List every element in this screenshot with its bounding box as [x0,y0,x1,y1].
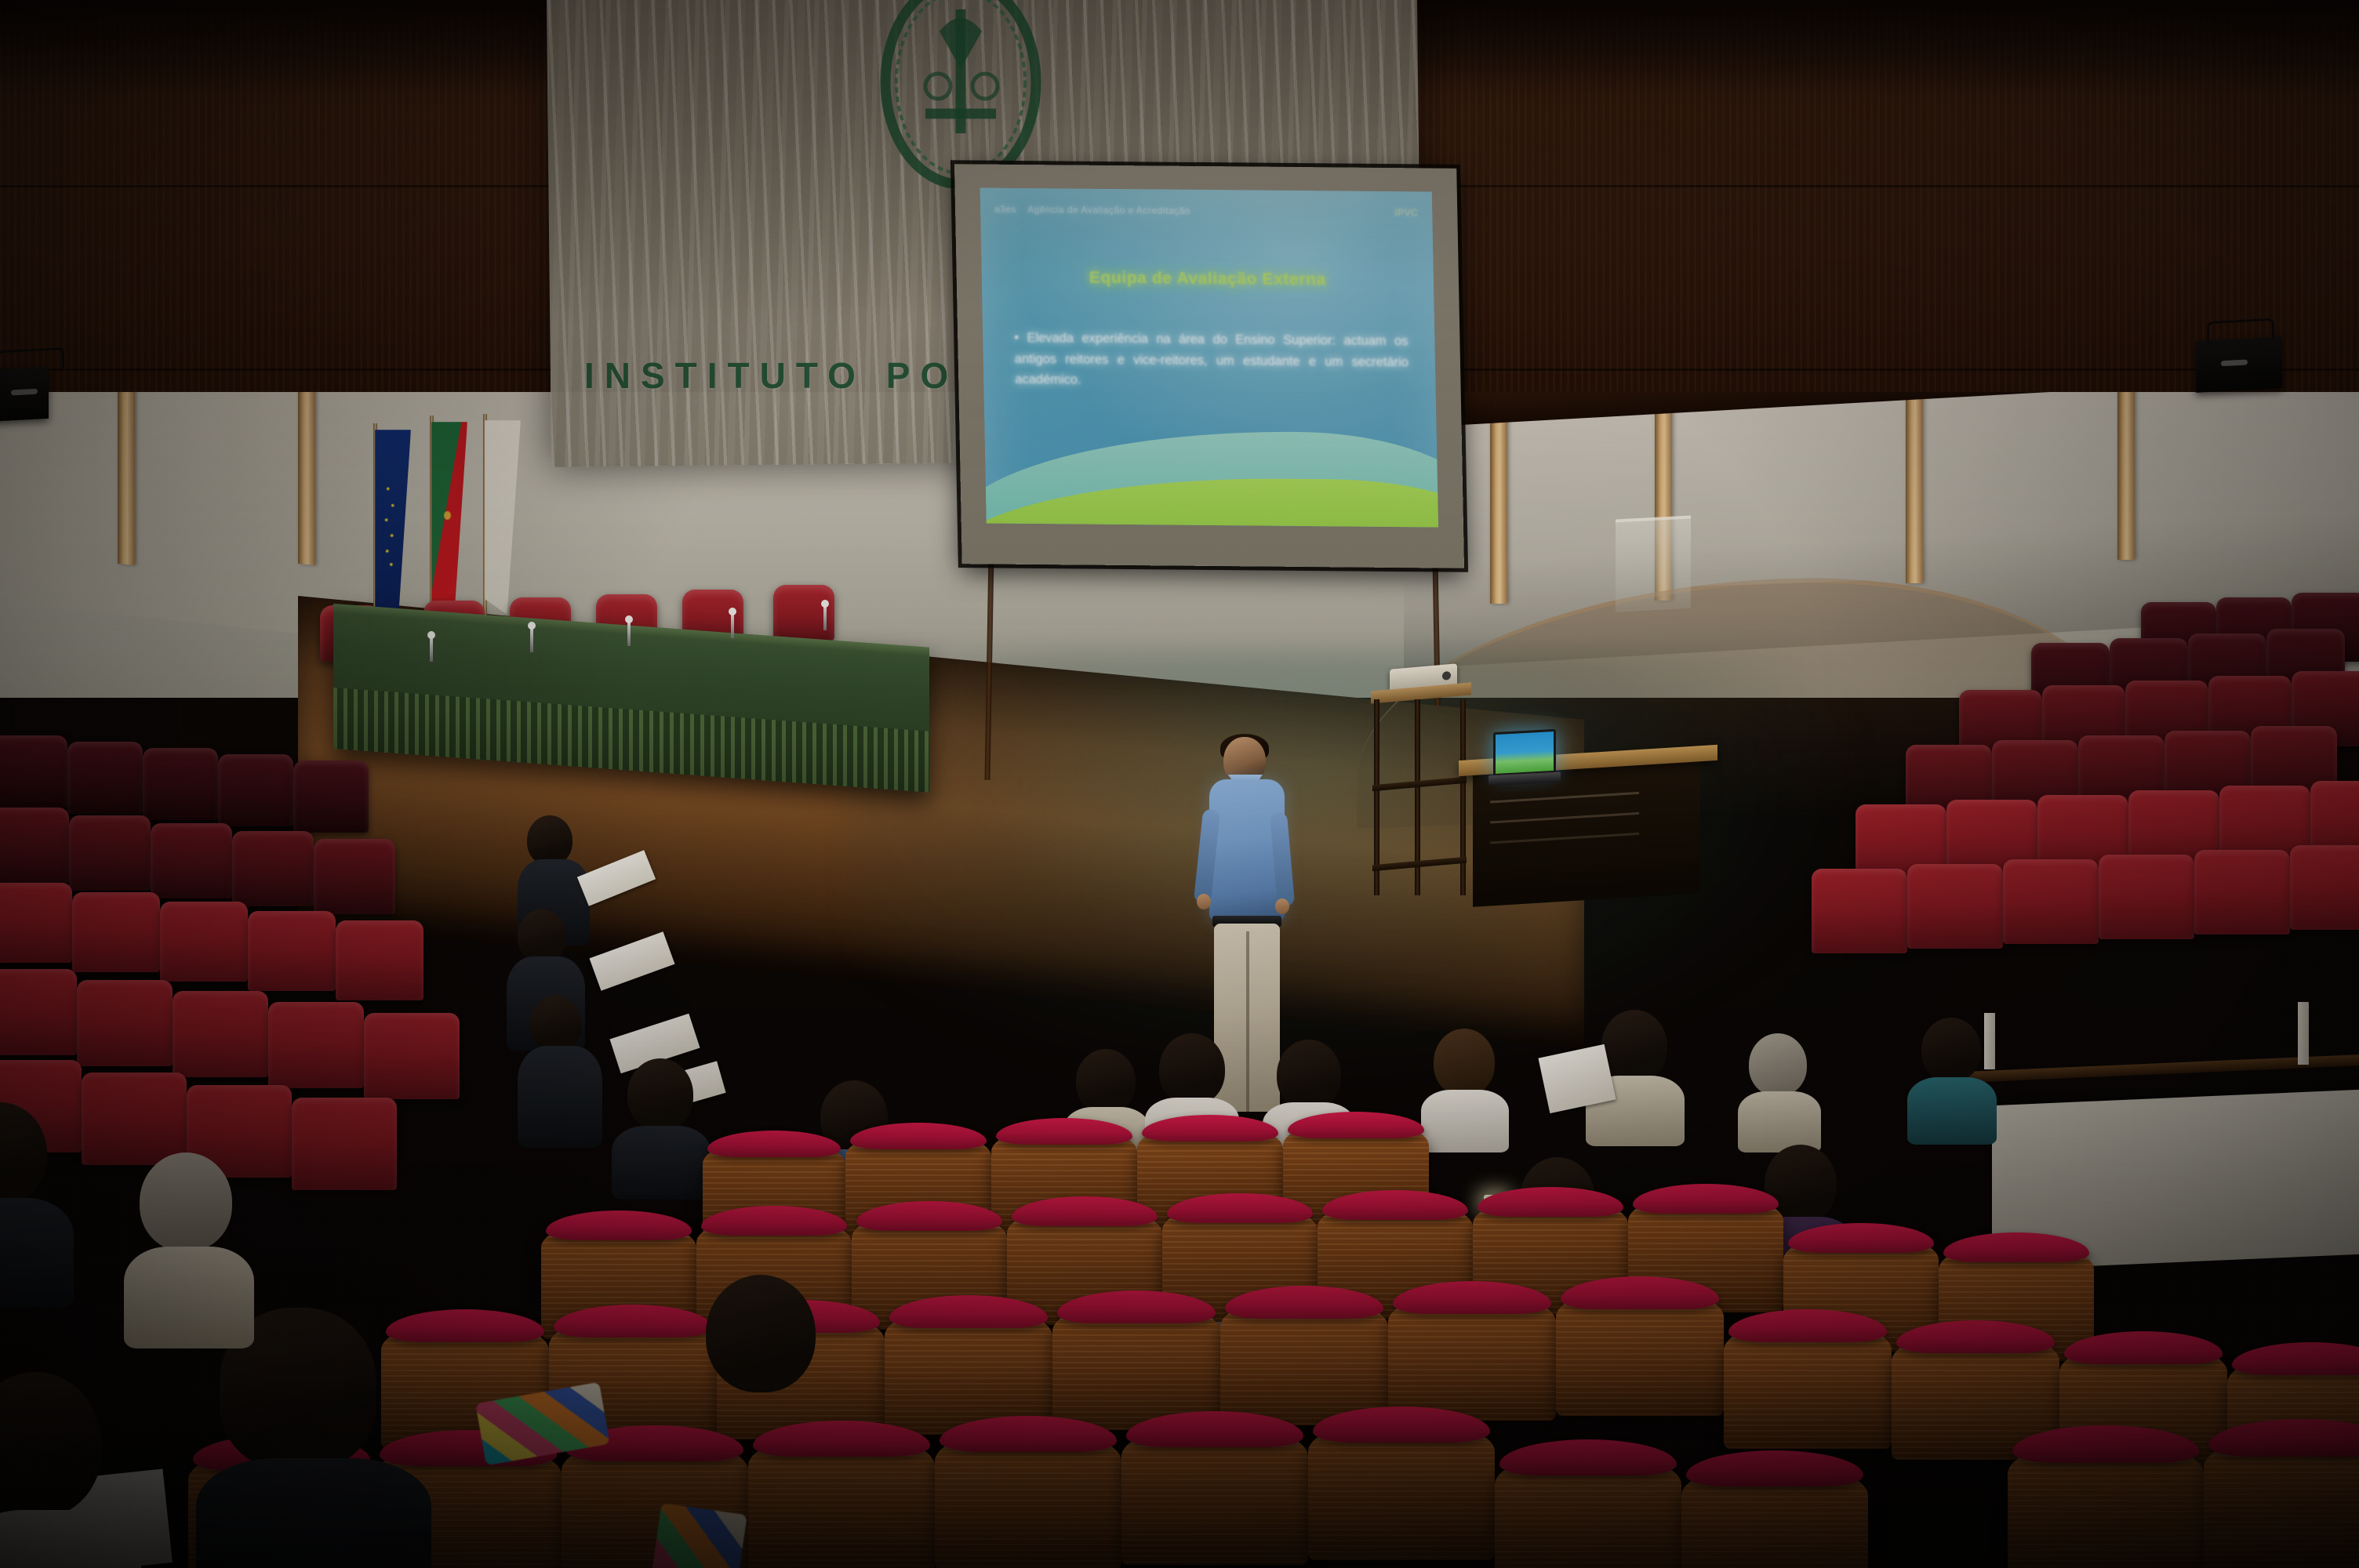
presenter-hand-right [1275,898,1289,914]
slide-logo-right: IPVC [1394,207,1418,218]
audience-head [1921,1018,1981,1082]
laptop-screen [1493,729,1556,776]
auditorium-seat [248,911,336,991]
auditorium-seat [0,735,67,808]
audience-torso [1421,1090,1509,1152]
audience-head [1159,1033,1225,1105]
auditorium-seat [151,823,232,898]
slide-header-logos: a3es Agência de Avaliação e Acreditação … [994,199,1419,223]
auditorium-seat [143,748,218,820]
audience-head [527,815,572,866]
auditorium-seat [1907,864,2003,949]
seat-cushion [1478,1187,1623,1217]
audience-torso [1738,1091,1821,1152]
audience-torso [0,1198,74,1308]
railing-post [1984,1013,1995,1069]
auditorium-seat [0,808,69,883]
presentation-slide: a3es Agência de Avaliação e Acreditação … [980,188,1438,528]
table-microphone [430,637,433,662]
audience-torso [518,1046,602,1148]
audience-head [530,996,582,1052]
auditorium-seat [292,1098,397,1190]
auditorium-seat [268,1002,364,1088]
seat-cushion [1633,1184,1779,1214]
auditorium-seat [232,831,314,906]
audience-head [1277,1040,1341,1110]
audience-head [1749,1033,1807,1096]
audience-torso [1907,1077,1997,1145]
slide-title: Equipa de Avaliação Externa [982,268,1434,291]
railing-post [2298,1002,2309,1065]
table-microphone [823,605,827,630]
wall-speaker-icon [2196,336,2282,393]
wall-speaker-icon [0,367,49,422]
seat-cushion [707,1131,841,1157]
audience-head [1076,1049,1136,1113]
auditorium-seat [69,815,151,891]
audience-torso [124,1247,254,1348]
auditorium-seat [0,969,77,1055]
seat-cushion [1686,1450,1863,1486]
auditorium-seat [2003,859,2099,944]
auditorium-seat [2099,855,2194,939]
projection-screen: a3es Agência de Avaliação e Acreditação … [954,164,1464,568]
seat-cushion [386,1309,544,1342]
audience-head [1601,1010,1667,1082]
table-microphone [530,627,533,652]
auditorium-seat [2290,845,2359,930]
auditorium-seat [1812,869,1907,953]
auditorium-seat [72,892,160,972]
audience-head [518,909,566,963]
audience-head [706,1275,816,1392]
auditorium-seat [67,742,143,814]
auditorium-seat [336,920,423,1000]
auditorium-seat [2194,850,2290,935]
auditorium-seat [314,839,395,914]
table-microphone [627,621,631,646]
acrylic-lectern [1616,515,1691,612]
audience-head [627,1058,693,1131]
audience-torso [612,1126,711,1200]
audience-head [140,1152,232,1251]
auditorium-seat [0,883,72,963]
institutional-crest-icon [871,0,1051,188]
seat-cushion [1499,1439,1677,1475]
auditorium-photo: INSTITUTO POLIT a3es Agência de Avaliaçã… [0,0,2359,1568]
auditorium-seat [293,760,369,833]
auditorium-seat [77,980,173,1066]
auditorium-seat [82,1073,187,1165]
auditorium-seat [160,902,248,982]
patterned-scarf [644,1503,747,1568]
presenter-hand-left [1197,894,1211,909]
av-trolley [1371,687,1471,914]
slide-logo-center: Agência de Avaliação e Acreditação [1027,204,1190,216]
audience-head [1434,1029,1495,1096]
auditorium-seat [364,1013,460,1099]
audience-torso [196,1458,431,1568]
auditorium-seat [173,991,268,1077]
auditorium-seat [218,754,293,826]
seat-cushion [2232,1342,2359,1375]
table-microphone [731,613,734,638]
presenter-laptop [1488,729,1561,791]
wall-pilaster [118,368,135,565]
seat-cushion [546,1210,692,1240]
presenter-trousers [1214,924,1280,1112]
wall-pilaster [298,383,315,565]
slide-logo-left: a3es [994,204,1016,215]
slide-body-text: • Elevada experiência na área do Ensino … [1014,328,1409,394]
